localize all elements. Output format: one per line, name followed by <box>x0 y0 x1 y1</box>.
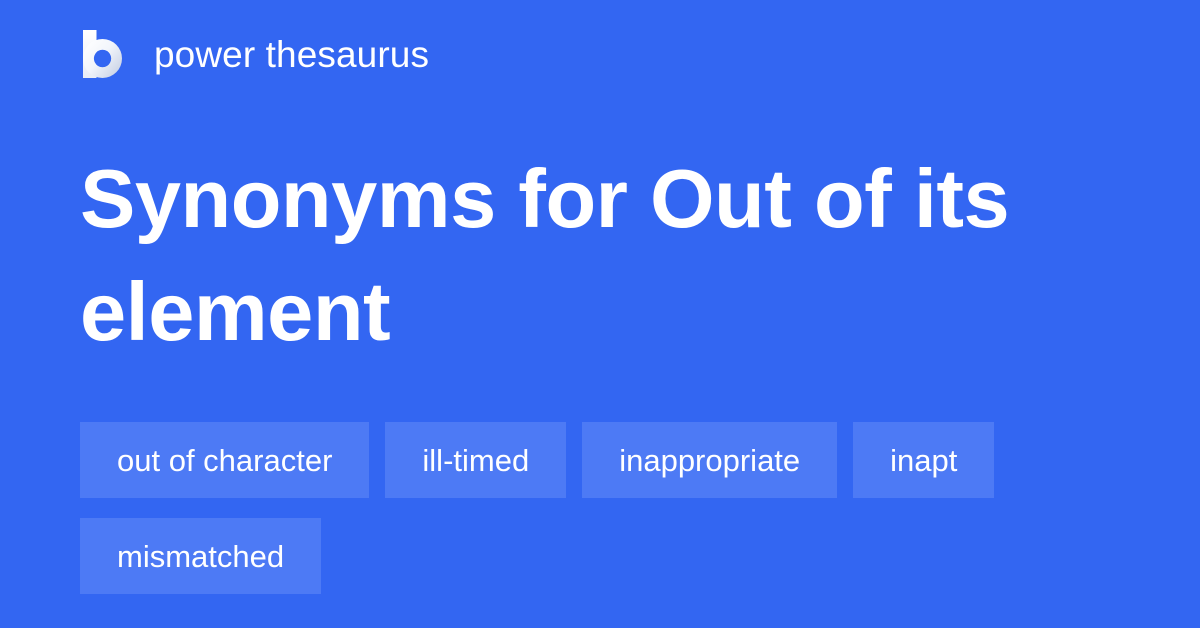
page-title-line-2: element <box>80 265 390 358</box>
page-title: Synonyms for Out of its element <box>80 142 1080 368</box>
social-card: power thesaurus Synonyms for Out of its … <box>0 0 1200 628</box>
brand-name: power thesaurus <box>154 36 429 73</box>
synonym-tag[interactable]: mismatched <box>80 518 321 594</box>
synonym-tag[interactable]: out of character <box>80 422 369 498</box>
power-thesaurus-b-logo-icon <box>80 28 132 80</box>
synonym-tag[interactable]: inapt <box>853 422 994 498</box>
synonym-tag[interactable]: ill-timed <box>385 422 566 498</box>
brand-logo[interactable]: power thesaurus <box>80 28 429 80</box>
synonym-tag[interactable]: inappropriate <box>582 422 837 498</box>
page-title-line-1: Synonyms for Out of its <box>80 152 1009 245</box>
synonym-tag-list: out of character ill-timed inappropriate… <box>80 422 1140 594</box>
